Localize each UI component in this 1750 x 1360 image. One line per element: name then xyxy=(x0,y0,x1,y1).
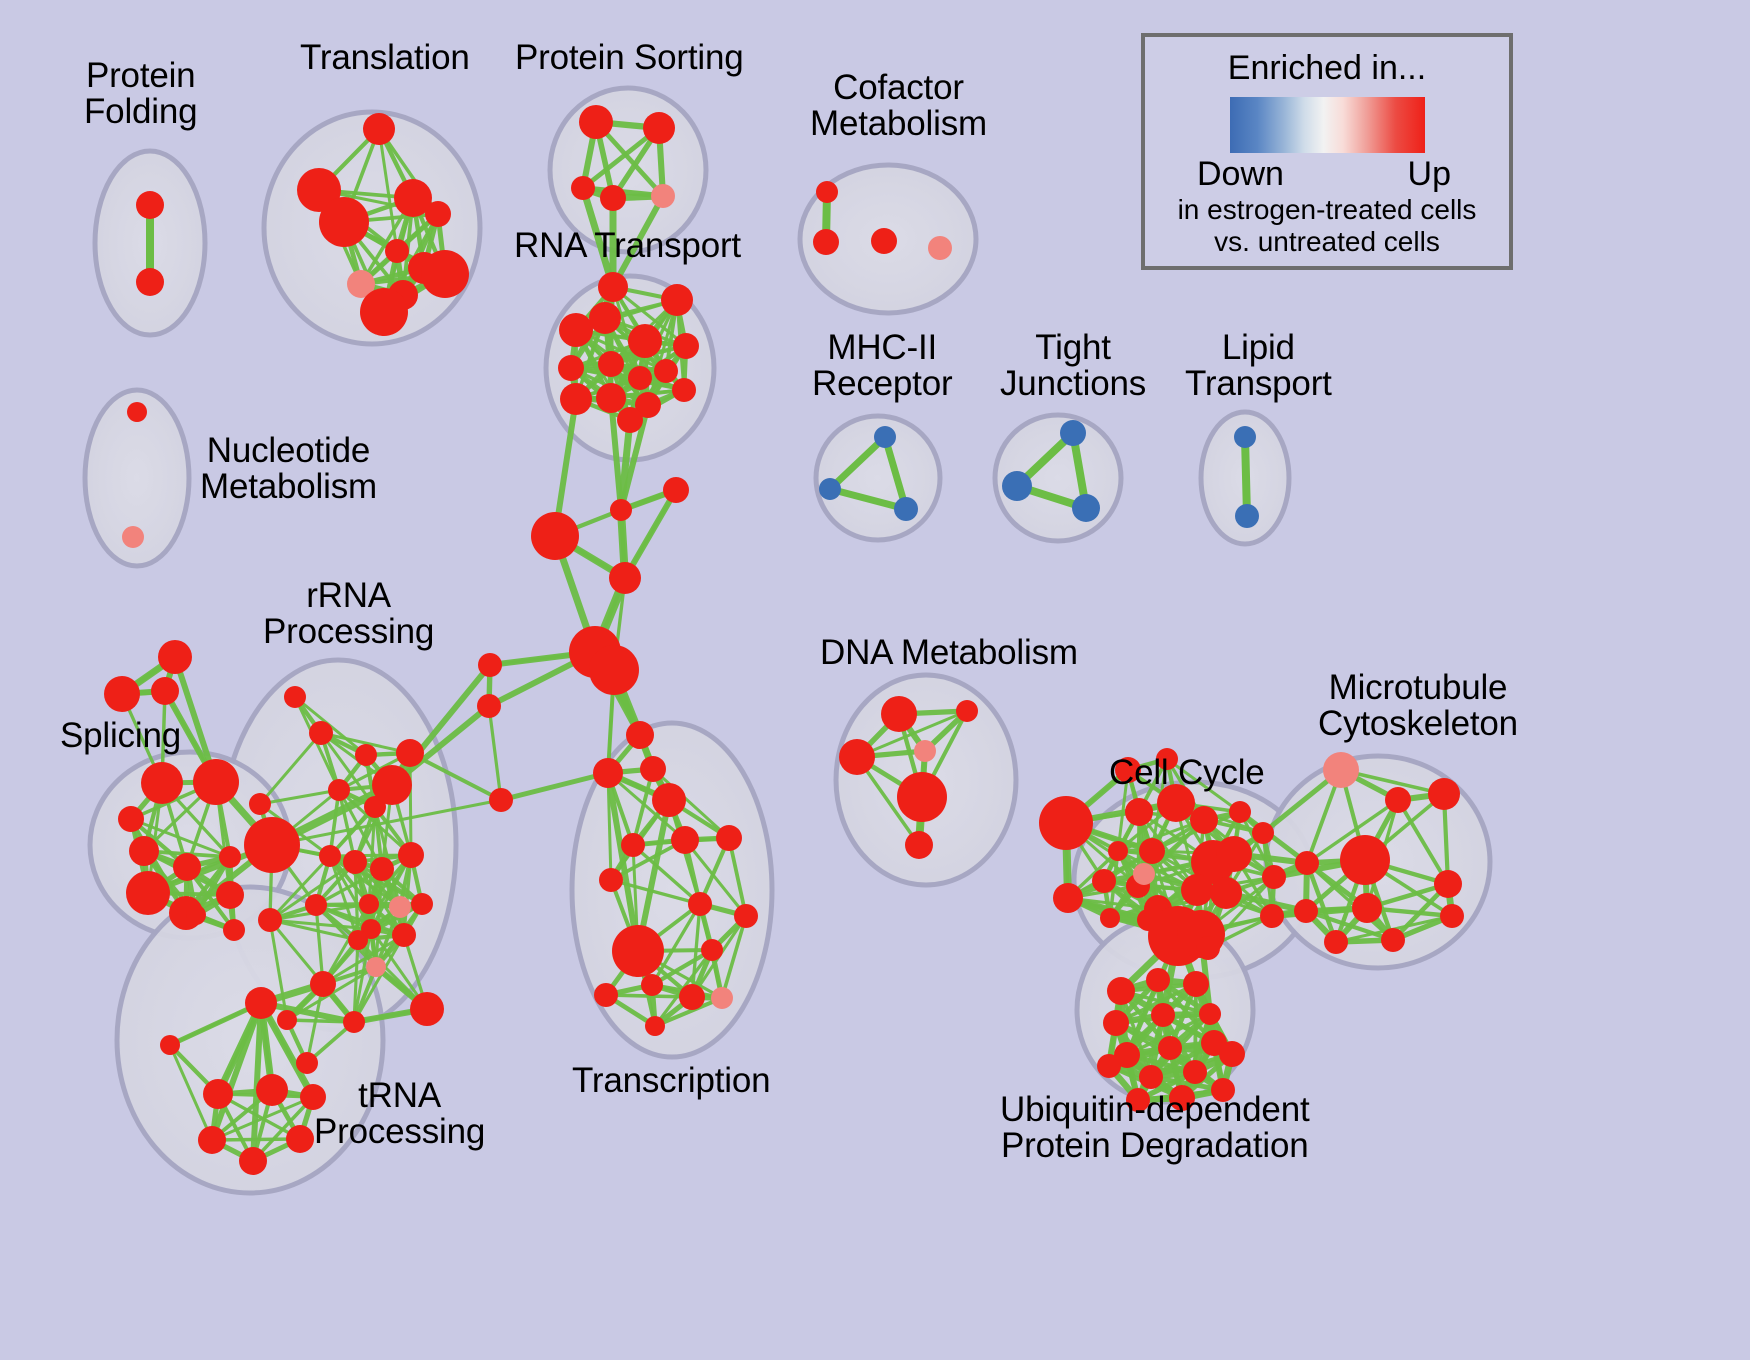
network-node xyxy=(1108,841,1128,861)
cluster-label-microtubule-cytoskeleton: Microtubule Cytoskeleton xyxy=(1318,670,1518,743)
network-node xyxy=(1199,1003,1221,1025)
cluster-label-splicing: Splicing xyxy=(60,718,181,754)
network-node xyxy=(310,971,336,997)
cluster-label-mhc-ii-receptor: MHC-II Receptor xyxy=(812,330,952,403)
network-node xyxy=(1190,806,1218,834)
network-node xyxy=(118,806,144,832)
network-node xyxy=(136,191,164,219)
network-node xyxy=(1125,798,1153,826)
network-node xyxy=(1428,778,1460,810)
network-node xyxy=(839,739,875,775)
network-node xyxy=(1340,835,1390,885)
network-node xyxy=(905,831,933,859)
network-node xyxy=(385,239,409,263)
network-node xyxy=(245,987,277,1019)
network-node xyxy=(640,756,666,782)
network-node xyxy=(628,366,652,390)
network-node xyxy=(1235,504,1259,528)
network-node xyxy=(355,744,377,766)
network-node xyxy=(617,407,643,433)
network-node xyxy=(1183,971,1209,997)
network-node xyxy=(1103,1010,1129,1036)
network-node xyxy=(398,842,424,868)
cluster-label-protein-folding: Protein Folding xyxy=(84,58,197,131)
network-node xyxy=(360,288,408,336)
network-node xyxy=(1234,426,1256,448)
network-node xyxy=(628,324,662,358)
network-node xyxy=(579,105,613,139)
network-node xyxy=(1196,936,1220,960)
network-node xyxy=(319,845,341,867)
network-node xyxy=(1092,869,1116,893)
network-edge xyxy=(489,706,501,800)
network-node xyxy=(645,1016,665,1036)
network-node xyxy=(160,1035,180,1055)
network-node xyxy=(1294,899,1318,923)
cluster-label-protein-sorting: Protein Sorting xyxy=(515,40,744,76)
legend-up-label: Up xyxy=(1408,155,1451,194)
network-node xyxy=(813,229,839,255)
cluster-label-lipid-transport: Lipid Transport xyxy=(1185,330,1332,403)
network-node xyxy=(531,512,579,560)
network-node xyxy=(1107,977,1135,1005)
network-node xyxy=(141,762,183,804)
network-node xyxy=(1158,1036,1182,1060)
network-node xyxy=(1133,863,1155,885)
network-node xyxy=(559,313,593,347)
network-node xyxy=(610,499,632,521)
network-node xyxy=(305,894,327,916)
network-node xyxy=(819,478,841,500)
network-node xyxy=(596,383,626,413)
network-node xyxy=(249,793,271,815)
network-node xyxy=(589,645,639,695)
network-node xyxy=(239,1147,267,1175)
network-node xyxy=(560,383,592,415)
network-node xyxy=(816,181,838,203)
network-node xyxy=(1181,874,1213,906)
network-node xyxy=(122,526,144,548)
network-node xyxy=(127,402,147,422)
network-node xyxy=(734,904,758,928)
network-node xyxy=(489,788,513,812)
legend-title: Enriched in... xyxy=(1145,49,1509,88)
network-node xyxy=(1139,1065,1163,1089)
cluster-label-cofactor-metabolism: Cofactor Metabolism xyxy=(810,70,987,143)
cluster-label-dna-metabolism: DNA Metabolism xyxy=(820,635,1078,671)
network-node xyxy=(203,1079,233,1109)
network-node xyxy=(173,853,201,881)
network-node xyxy=(672,378,696,402)
network-node xyxy=(193,759,239,805)
network-node xyxy=(1210,877,1242,909)
network-node xyxy=(216,881,244,909)
network-node xyxy=(1100,908,1120,928)
network-node xyxy=(914,740,936,762)
network-node xyxy=(1072,494,1100,522)
network-node xyxy=(1323,752,1359,788)
cluster-label-trna-processing: tRNA Processing xyxy=(314,1078,485,1151)
network-node xyxy=(198,1126,226,1154)
network-node xyxy=(589,302,621,334)
network-node xyxy=(661,284,693,316)
network-node xyxy=(410,992,444,1026)
network-node xyxy=(599,868,623,892)
legend-panel: Enriched in... Down Up in estrogen-treat… xyxy=(1141,33,1513,270)
network-node xyxy=(372,765,412,805)
network-node xyxy=(956,700,978,722)
network-node xyxy=(1039,796,1093,850)
network-node xyxy=(343,1011,365,1033)
network-node xyxy=(104,676,140,712)
cluster-label-transcription: Transcription xyxy=(572,1063,770,1099)
network-node xyxy=(343,850,367,874)
network-node xyxy=(1183,1060,1207,1084)
network-node xyxy=(671,826,699,854)
network-node xyxy=(286,1125,314,1153)
network-node xyxy=(598,351,624,377)
network-node xyxy=(1229,801,1251,823)
network-node xyxy=(593,758,623,788)
network-node xyxy=(874,426,896,448)
network-node xyxy=(609,562,641,594)
network-node xyxy=(421,250,469,298)
network-node xyxy=(366,957,386,977)
legend-subtitle-line1: in estrogen-treated cells xyxy=(1145,195,1509,225)
network-node xyxy=(1295,851,1319,875)
network-node xyxy=(594,983,618,1007)
network-node xyxy=(871,228,897,254)
network-node xyxy=(612,925,664,977)
network-node xyxy=(1146,968,1170,992)
network-node xyxy=(256,1074,288,1106)
cluster-label-ubiquitin-protein-degradation: Ubiquitin-dependent Protein Degradation xyxy=(1000,1092,1310,1165)
network-node xyxy=(219,846,241,868)
network-node xyxy=(309,721,333,745)
network-node xyxy=(571,176,595,200)
cluster-label-translation: Translation xyxy=(300,40,470,76)
network-node xyxy=(651,184,675,208)
network-node xyxy=(1262,865,1286,889)
network-node xyxy=(363,113,395,145)
network-node xyxy=(296,1052,318,1074)
network-node xyxy=(1440,904,1464,928)
network-node xyxy=(1002,471,1032,501)
cluster-label-nucleotide-metabolism: Nucleotide Metabolism xyxy=(200,433,377,506)
network-node xyxy=(389,896,411,918)
legend-down-label: Down xyxy=(1197,155,1284,194)
network-node xyxy=(478,653,502,677)
legend-subtitle-line2: vs. untreated cells xyxy=(1145,227,1509,257)
network-node xyxy=(1060,420,1086,446)
network-node xyxy=(643,112,675,144)
network-node xyxy=(679,984,705,1010)
network-node xyxy=(1219,1041,1245,1067)
network-node xyxy=(1139,838,1165,864)
network-node xyxy=(151,677,179,705)
network-node xyxy=(411,893,433,915)
network-node xyxy=(223,919,245,941)
network-node xyxy=(881,696,917,732)
network-node xyxy=(126,871,170,915)
network-node xyxy=(1097,1054,1121,1078)
network-node xyxy=(284,686,306,708)
network-node xyxy=(688,892,712,916)
network-node xyxy=(258,908,282,932)
network-node xyxy=(673,333,699,359)
network-node xyxy=(1434,870,1462,898)
network-node xyxy=(348,930,368,950)
network-node xyxy=(425,201,451,227)
legend-endpoints: Down Up xyxy=(1197,153,1457,193)
network-node xyxy=(319,197,369,247)
network-node xyxy=(621,833,645,857)
network-node xyxy=(392,923,416,947)
network-node xyxy=(1252,822,1274,844)
network-node xyxy=(600,185,626,211)
network-node xyxy=(1260,904,1284,928)
network-node xyxy=(626,721,654,749)
network-node xyxy=(716,825,742,851)
network-node xyxy=(711,987,733,1009)
network-node xyxy=(359,894,379,914)
network-node xyxy=(558,355,584,381)
network-node xyxy=(186,905,206,925)
network-node xyxy=(1151,1003,1175,1027)
network-node xyxy=(396,739,424,767)
network-node xyxy=(277,1010,297,1030)
network-node xyxy=(641,974,663,996)
network-node xyxy=(328,779,350,801)
cluster-label-cell-cycle: Cell Cycle xyxy=(1109,755,1265,791)
network-node xyxy=(129,836,159,866)
network-node xyxy=(477,694,501,718)
network-node xyxy=(1324,930,1348,954)
network-node xyxy=(894,497,918,521)
network-figure: Protein FoldingTranslationProtein Sortin… xyxy=(0,0,1750,1360)
cluster-label-tight-junctions: Tight Junctions xyxy=(1000,330,1146,403)
network-node xyxy=(1216,836,1252,872)
network-node xyxy=(663,477,689,503)
network-node xyxy=(652,783,686,817)
network-node xyxy=(370,857,394,881)
network-node xyxy=(1381,928,1405,952)
legend-color-bar xyxy=(1230,97,1425,153)
cluster-label-rna-transport: RNA Transport xyxy=(514,228,741,264)
network-node xyxy=(1385,787,1411,813)
network-node xyxy=(244,817,300,873)
network-node xyxy=(654,359,678,383)
network-node xyxy=(1352,893,1382,923)
cluster-label-rrna-processing: rRNA Processing xyxy=(263,578,434,651)
network-node xyxy=(598,272,628,302)
network-node xyxy=(701,939,723,961)
network-node xyxy=(1053,883,1083,913)
network-node xyxy=(136,268,164,296)
network-node xyxy=(928,236,952,260)
network-node xyxy=(158,640,192,674)
network-node xyxy=(897,772,947,822)
